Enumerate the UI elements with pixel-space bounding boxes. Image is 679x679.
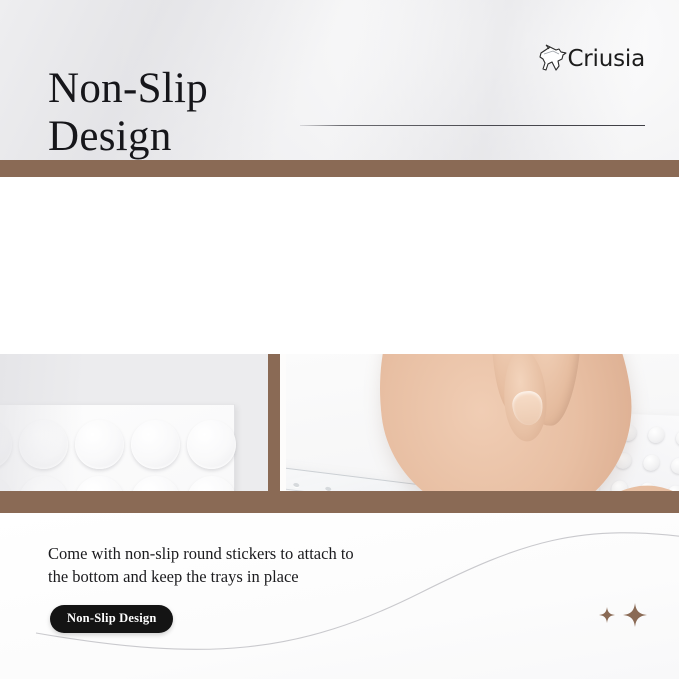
page-title-line-2: Design — [48, 113, 378, 161]
decorative-swoosh — [0, 513, 679, 679]
sparkle-group — [599, 603, 647, 632]
sticker-dot — [131, 420, 180, 469]
sticker-dot — [19, 420, 68, 469]
footer-caption: Come with non-slip round stickers to att… — [48, 542, 408, 590]
brand-name: Criusia — [567, 46, 645, 72]
brown-bar-top — [0, 160, 679, 177]
sticker-dot — [187, 420, 236, 469]
page-title: Non-Slip Design — [48, 65, 378, 161]
footer: Come with non-slip round stickers to att… — [0, 513, 679, 679]
footer-caption-line-2: the bottom and keep the trays in place — [48, 567, 299, 586]
footer-caption-line-1: Come with non-slip round stickers to att… — [48, 544, 354, 563]
sticker-dot — [75, 420, 124, 469]
kangaroo-icon — [535, 44, 569, 74]
product-infographic: Non-Slip Design Criusia — [0, 0, 679, 679]
brown-bar-bottom — [0, 491, 679, 513]
header-divider — [300, 125, 645, 126]
status-badge: Non-Slip Design — [50, 605, 173, 633]
sticker-dot — [0, 420, 12, 469]
brand-logo: Criusia — [535, 44, 645, 74]
gallery-band: Non-Slip — [0, 177, 679, 491]
page-title-line-1: Non-Slip — [48, 65, 208, 112]
sparkle-large-icon — [623, 603, 647, 632]
sparkle-small-icon — [599, 607, 615, 628]
